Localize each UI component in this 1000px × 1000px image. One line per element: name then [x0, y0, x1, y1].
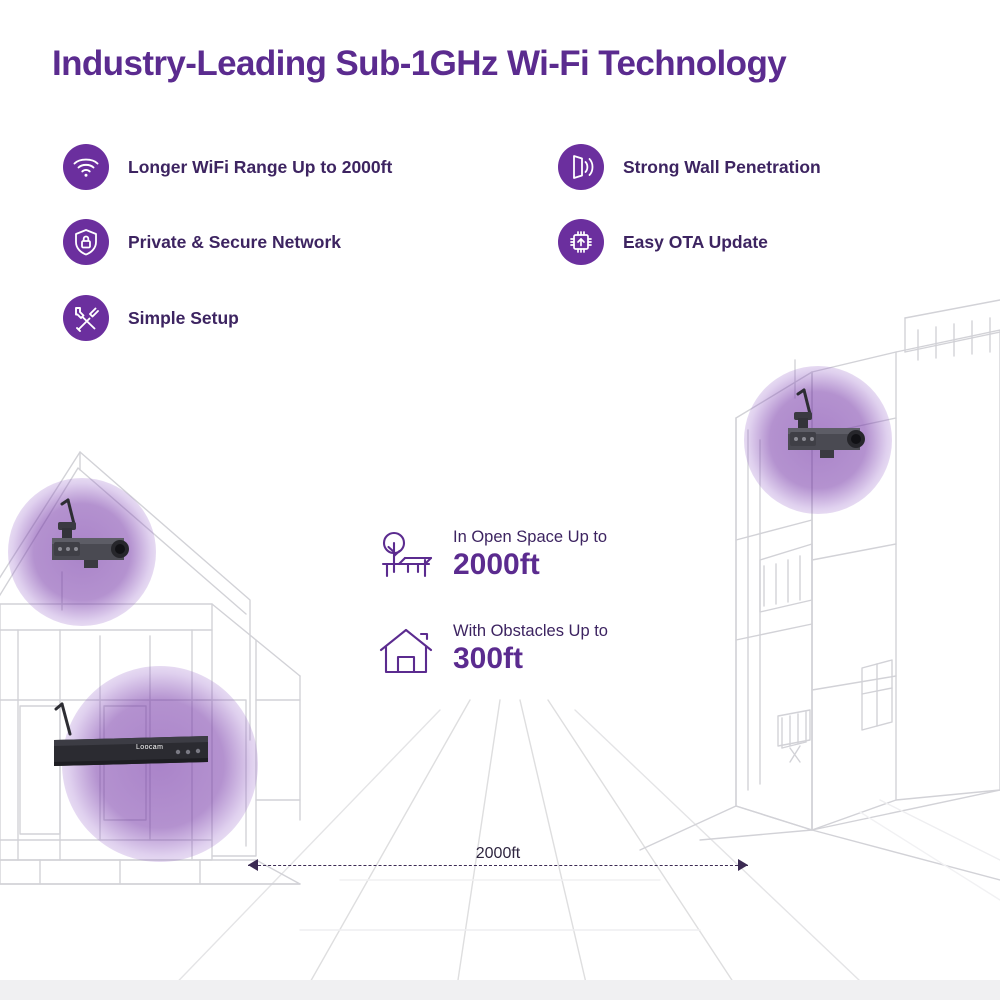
arrow-right-icon — [738, 859, 748, 871]
range-stat-with-obstacles: With Obstacles Up to 300ft — [375, 622, 608, 684]
infographic-canvas: Loocam Industry-Leading Sub-1GHz Wi-Fi T… — [0, 0, 1000, 1000]
tree-bench-icon — [375, 528, 437, 590]
nvr-recorder — [48, 700, 216, 780]
range-stat-caption: With Obstacles Up to — [453, 622, 608, 640]
tools-icon — [63, 295, 109, 341]
chip-upload-icon — [558, 219, 604, 265]
feature-label: Simple Setup — [128, 308, 239, 329]
range-stat-open-space: In Open Space Up to 2000ft — [375, 528, 607, 590]
wireless-camera-left — [28, 498, 140, 572]
range-stat-value: 300ft — [453, 642, 608, 677]
feature-label: Easy OTA Update — [623, 232, 768, 253]
arrow-left-icon — [248, 859, 258, 871]
wifi-icon — [63, 144, 109, 190]
wall-signal-icon — [558, 144, 604, 190]
wireless-camera-right — [764, 388, 876, 462]
feature-item-private-secure-network: Private & Secure Network — [63, 219, 341, 265]
bottom-divider — [0, 980, 1000, 1000]
distance-label: 2000ft — [248, 845, 748, 863]
feature-item-strong-wall-penetration: Strong Wall Penetration — [558, 144, 821, 190]
nvr-brand-label: Loocam — [136, 744, 163, 751]
page-title: Industry-Leading Sub-1GHz Wi-Fi Technolo… — [52, 44, 786, 84]
house-icon — [375, 622, 437, 684]
feature-item-longer-wifi-range: Longer WiFi Range Up to 2000ft — [63, 144, 392, 190]
feature-item-easy-ota-update: Easy OTA Update — [558, 219, 768, 265]
distance-dimension-line: 2000ft — [248, 845, 748, 879]
feature-label: Private & Secure Network — [128, 232, 341, 253]
dimension-axis — [248, 865, 748, 866]
range-stat-value: 2000ft — [453, 548, 607, 583]
feature-item-simple-setup: Simple Setup — [63, 295, 239, 341]
feature-label: Strong Wall Penetration — [623, 157, 821, 178]
feature-label: Longer WiFi Range Up to 2000ft — [128, 157, 392, 178]
shield-lock-icon — [63, 219, 109, 265]
range-stat-caption: In Open Space Up to — [453, 528, 607, 546]
